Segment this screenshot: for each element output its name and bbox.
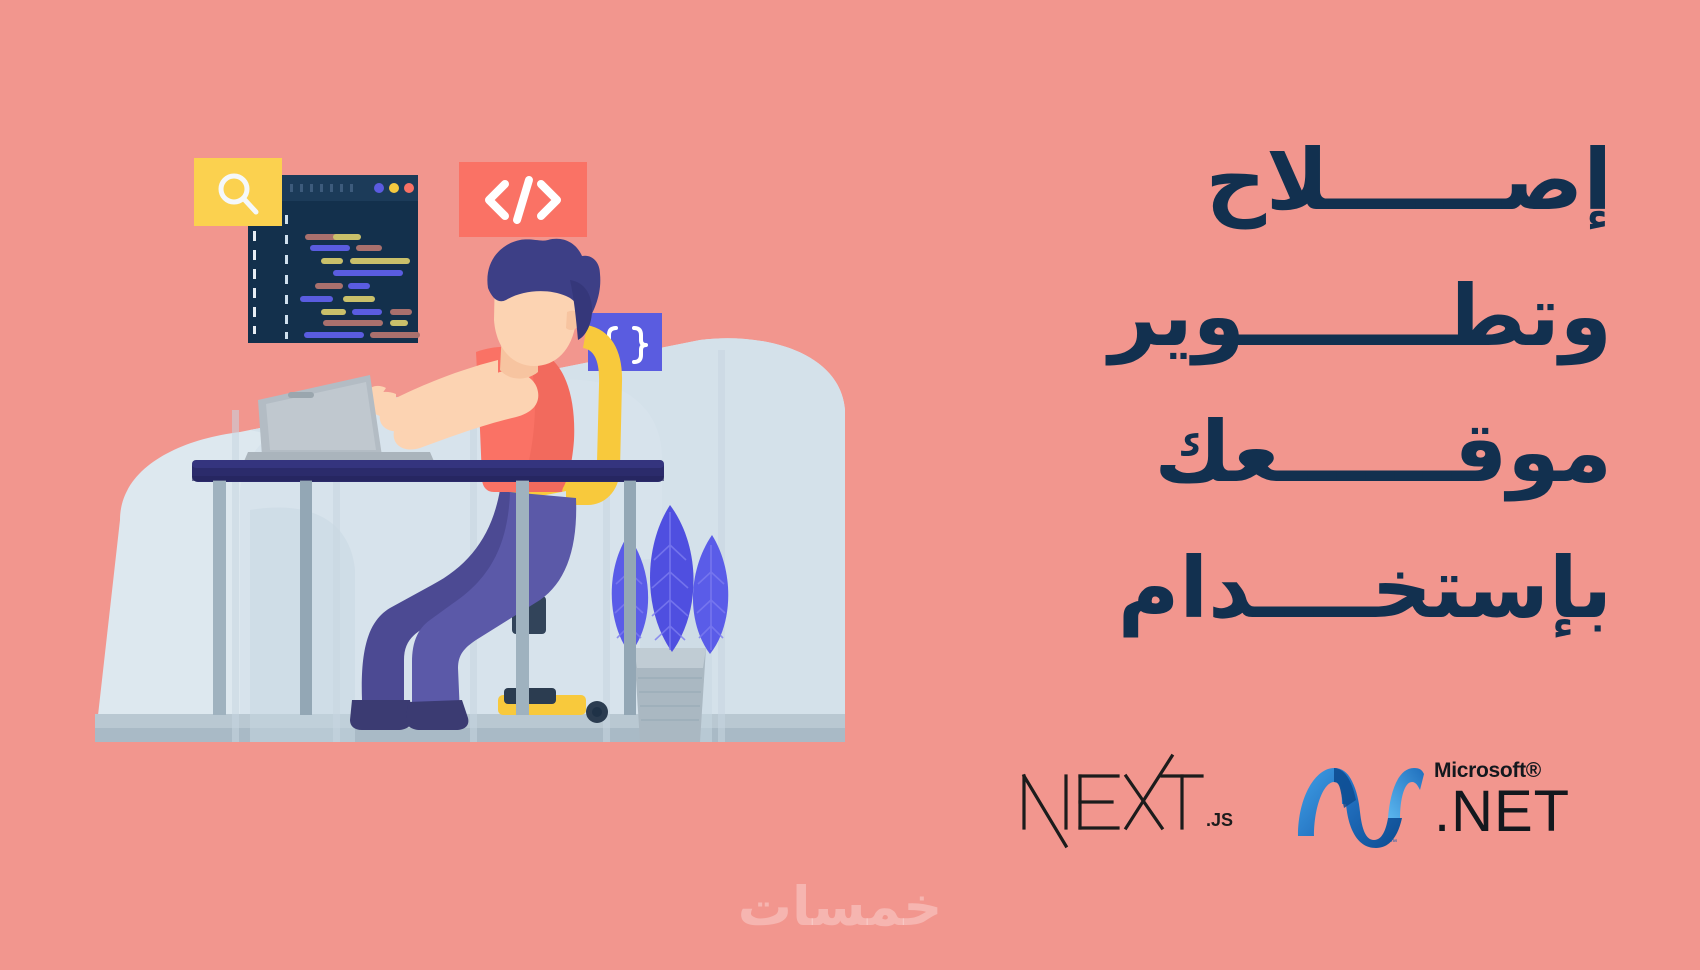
- headline-line-2: وتطـــــــوير: [1092, 248, 1612, 384]
- nextjs-logo: .JS: [1010, 750, 1240, 850]
- banner-root: إصــــــلاح وتطـــــــوير موقــــــعك بإ…: [0, 0, 1700, 970]
- nextjs-wordmark-icon: .JS: [1010, 750, 1240, 850]
- window-dot-blue: [374, 183, 384, 193]
- headline-line-3: موقــــــعك: [1092, 384, 1612, 520]
- developer-at-desk-illustration: [0, 0, 940, 970]
- dotnet-label: .NET: [1434, 783, 1570, 841]
- headline-line-1: إصــــــلاح: [1092, 112, 1612, 248]
- dotnet-swoosh-icon: ™: [1294, 752, 1424, 848]
- microsoft-label: Microsoft®: [1434, 760, 1541, 781]
- headline: إصــــــلاح وتطـــــــوير موقــــــعك بإ…: [1092, 112, 1612, 656]
- dotnet-wordmark: Microsoft® .NET: [1434, 760, 1570, 841]
- technology-logos: .JS: [1010, 735, 1630, 865]
- desk-front-edge: [192, 476, 664, 481]
- window-dot-yellow: [389, 183, 399, 193]
- headline-line-4: بإستخــــدام: [1092, 520, 1612, 656]
- code-card: [459, 162, 587, 237]
- watermark: خمسات: [690, 880, 990, 934]
- search-card: [194, 158, 282, 226]
- svg-text:™: ™: [1390, 839, 1397, 846]
- window-dot-red: [404, 183, 414, 193]
- svg-text:.JS: .JS: [1206, 810, 1233, 830]
- dotnet-logo: ™ Microsoft® .NET: [1294, 752, 1570, 848]
